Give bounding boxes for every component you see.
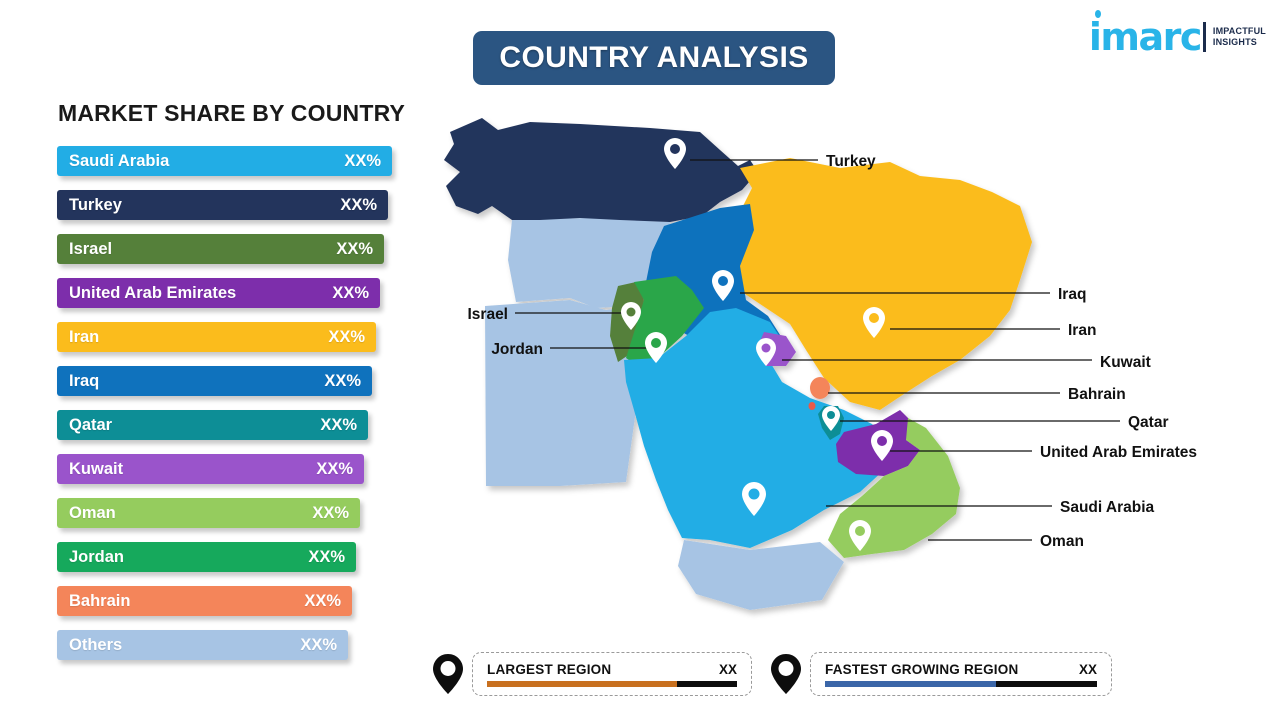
country-share-bar-value: XX% — [336, 240, 373, 259]
logo-divider — [1203, 22, 1206, 52]
map-region-others-yemen — [678, 540, 844, 610]
country-share-bar-value: XX% — [304, 592, 341, 611]
fastest-growing-region-value: XX — [1079, 662, 1097, 677]
map-label-kuwait: Kuwait — [1100, 354, 1151, 371]
country-share-bar-label: Israel — [69, 240, 336, 259]
largest-region-progress-fill — [487, 681, 677, 687]
country-share-bar[interactable]: JordanXX% — [57, 542, 356, 572]
map-label-saudi-arabia: Saudi Arabia — [1060, 499, 1155, 516]
country-share-bar-label: Iran — [69, 328, 328, 347]
fastest-growing-region-progress-fill — [825, 681, 996, 687]
map-region-bahrain — [810, 377, 830, 399]
country-share-bar-label: Bahrain — [69, 592, 304, 611]
country-share-bar[interactable]: IsraelXX% — [57, 234, 384, 264]
map-label-qatar: Qatar — [1128, 414, 1169, 431]
middle-east-map: Turkey Iraq Iran Kuwait Bahrain Qatar Un… — [420, 110, 1280, 630]
fastest-growing-region-block: FASTEST GROWING REGION XX — [770, 648, 1112, 700]
market-share-heading: MARKET SHARE BY COUNTRY — [58, 100, 405, 127]
country-share-bar-value: XX% — [312, 504, 349, 523]
logo-tagline-line2: INSIGHTS — [1213, 37, 1266, 48]
country-share-bar[interactable]: QatarXX% — [57, 410, 368, 440]
largest-region-value: XX — [719, 662, 737, 677]
country-share-bar-value: XX% — [300, 636, 337, 655]
fastest-growing-region-card: FASTEST GROWING REGION XX — [810, 652, 1112, 696]
country-share-bar-label: Turkey — [69, 196, 340, 215]
map-label-oman: Oman — [1040, 533, 1084, 550]
country-share-bar-label: Saudi Arabia — [69, 152, 344, 171]
map-label-iran: Iran — [1068, 322, 1096, 339]
market-share-bar-list: Saudi ArabiaXX%TurkeyXX%IsraelXX%United … — [57, 146, 407, 674]
largest-region-card: LARGEST REGION XX — [472, 652, 752, 696]
map-region-bahrain-small — [809, 402, 816, 410]
country-share-bar[interactable]: OthersXX% — [57, 630, 348, 660]
country-share-bar-label: Qatar — [69, 416, 320, 435]
country-share-bar[interactable]: IraqXX% — [57, 366, 372, 396]
map-label-jordan: Jordan — [491, 341, 543, 358]
country-share-bar-value: XX% — [340, 196, 377, 215]
map-regions — [444, 118, 1032, 610]
page-title-banner: COUNTRY ANALYSIS — [473, 31, 835, 85]
country-share-bar-label: Jordan — [69, 548, 308, 567]
country-share-bar[interactable]: Saudi ArabiaXX% — [57, 146, 392, 176]
region-legend-row: LARGEST REGION XX FASTEST GROWING REGION… — [432, 648, 1152, 700]
map-label-turkey: Turkey — [826, 153, 876, 170]
country-share-bar-label: United Arab Emirates — [69, 284, 332, 303]
country-share-bar-value: XX% — [332, 284, 369, 303]
country-share-bar[interactable]: BahrainXX% — [57, 586, 352, 616]
imarc-logo: imarc IMPACTFUL INSIGHTS — [1089, 16, 1266, 58]
map-label-bahrain: Bahrain — [1068, 386, 1126, 403]
country-share-bar[interactable]: TurkeyXX% — [57, 190, 388, 220]
page-title: COUNTRY ANALYSIS — [499, 41, 808, 75]
map-label-uae: United Arab Emirates — [1040, 444, 1197, 461]
country-share-bar[interactable]: OmanXX% — [57, 498, 360, 528]
country-share-bar-value: XX% — [316, 460, 353, 479]
map-label-iraq: Iraq — [1058, 286, 1086, 303]
country-share-bar-label: Iraq — [69, 372, 324, 391]
country-share-bar-label: Others — [69, 636, 300, 655]
logo-tagline-line1: IMPACTFUL — [1213, 26, 1266, 37]
country-share-bar-value: XX% — [324, 372, 361, 391]
fastest-growing-region-progress-bar — [825, 681, 1097, 687]
country-share-bar-label: Oman — [69, 504, 312, 523]
country-share-bar-value: XX% — [308, 548, 345, 567]
map-pin-icon — [770, 653, 802, 695]
map-label-israel: Israel — [467, 306, 508, 323]
country-share-bar-value: XX% — [328, 328, 365, 347]
logo-tagline: IMPACTFUL INSIGHTS — [1213, 26, 1266, 48]
largest-region-progress-bar — [487, 681, 737, 687]
country-share-bar-label: Kuwait — [69, 460, 316, 479]
largest-region-label: LARGEST REGION — [487, 662, 611, 677]
map-region-turkey — [444, 118, 758, 222]
largest-region-block: LARGEST REGION XX — [432, 648, 752, 700]
logo-dot-icon — [1095, 10, 1101, 18]
map-pin-icon — [432, 653, 464, 695]
country-share-bar[interactable]: United Arab EmiratesXX% — [57, 278, 380, 308]
country-share-bar[interactable]: KuwaitXX% — [57, 454, 364, 484]
country-share-bar-value: XX% — [320, 416, 357, 435]
logo-wordmark: imarc — [1089, 18, 1201, 56]
country-share-bar-value: XX% — [344, 152, 381, 171]
fastest-growing-region-label: FASTEST GROWING REGION — [825, 662, 1018, 677]
country-share-bar[interactable]: IranXX% — [57, 322, 376, 352]
logo-wordmark-text: imarc — [1089, 15, 1201, 59]
